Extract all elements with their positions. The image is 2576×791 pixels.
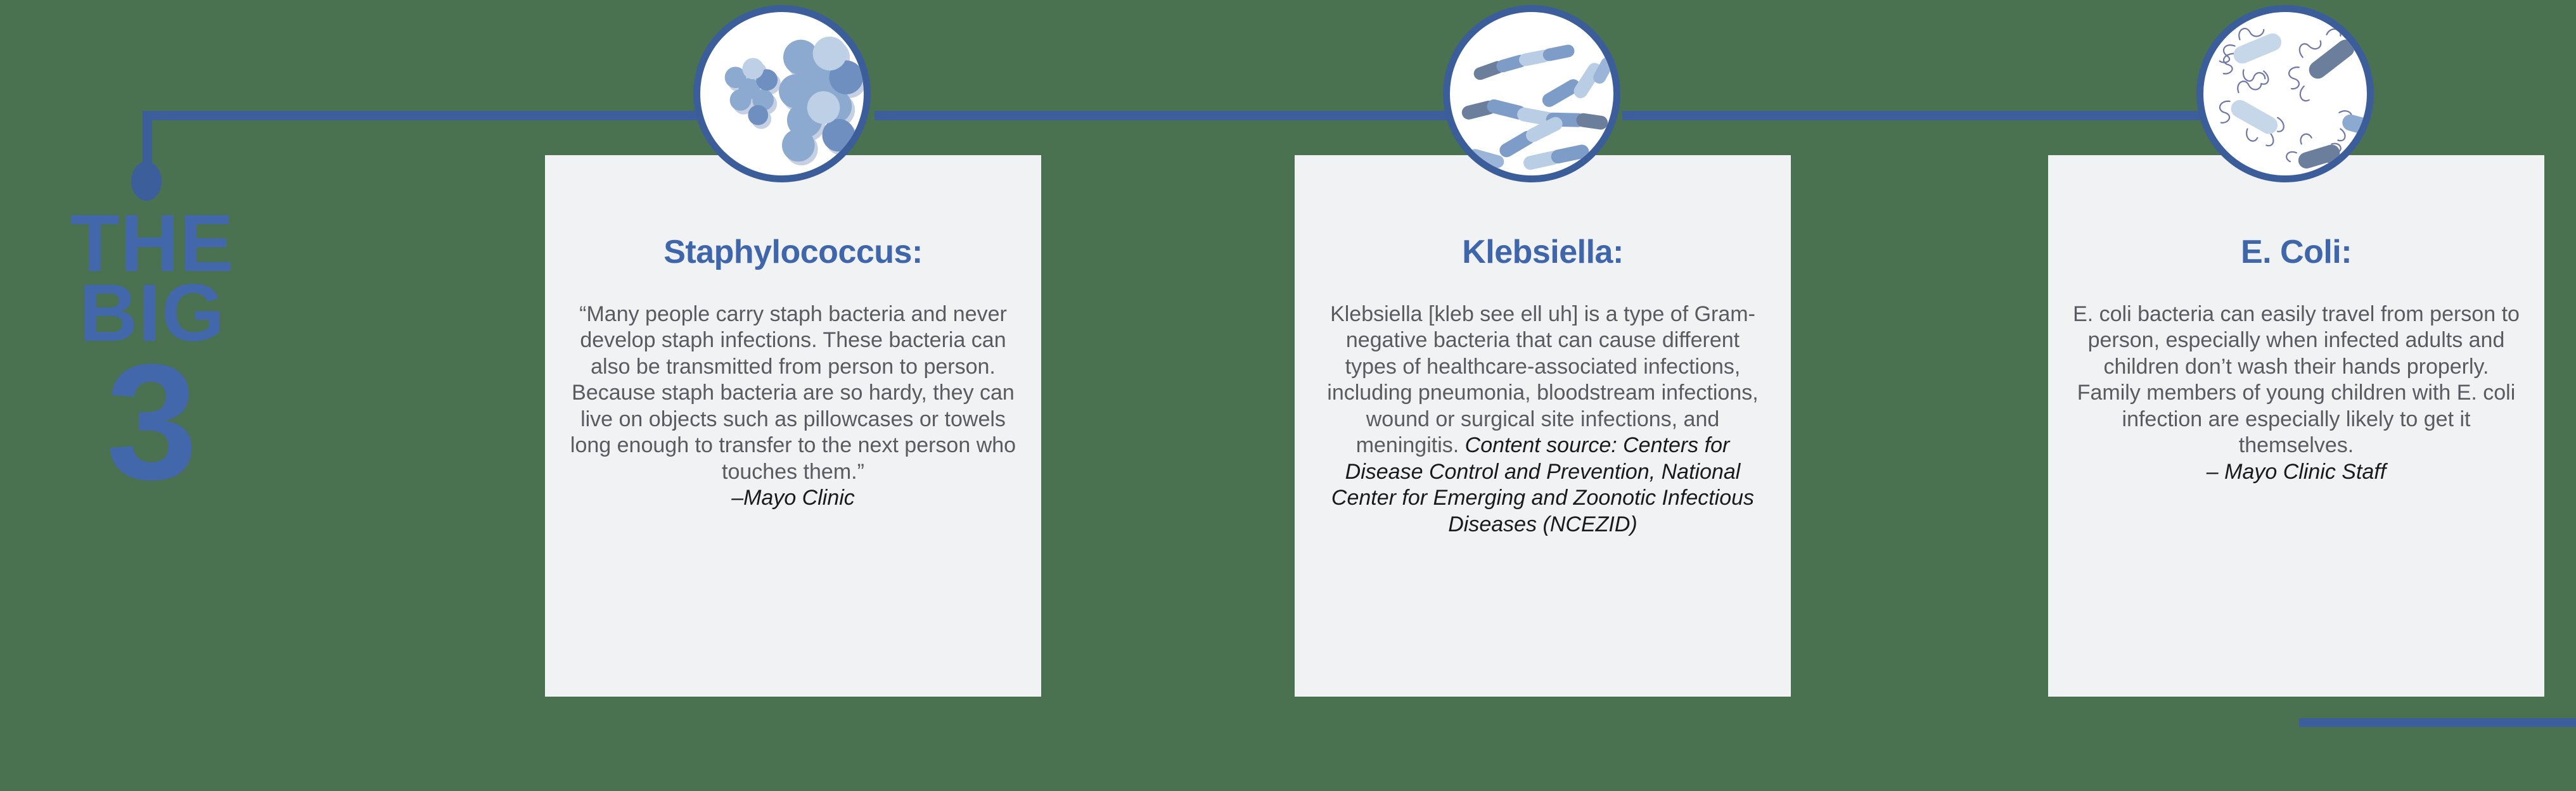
card-attribution: –Mayo Clinic <box>569 485 1017 511</box>
card-ecoli: E. Coli: E. coli bacteria can easily tra… <box>2048 155 2544 697</box>
card-staphylococcus: Staphylococcus: “Many people carry staph… <box>545 155 1041 697</box>
page-title: THE BIG 3 <box>19 209 285 494</box>
card-body-klebsiella: Klebsiella [kleb see ell uh] is a type o… <box>1319 301 1767 538</box>
card-title-klebsiella: Klebsiella: <box>1319 233 1767 271</box>
connector-line-main <box>143 111 783 120</box>
badge-ecoli <box>2196 5 2374 182</box>
card-body-ecoli: E. coli bacteria can easily travel from … <box>2072 301 2520 485</box>
card-body-text: E. coli bacteria can easily travel from … <box>2073 302 2520 457</box>
connector-line-card2-card3 <box>1622 111 2205 120</box>
bottom-rule <box>2299 718 2576 727</box>
card-klebsiella: Klebsiella: Klebsiella [kleb see ell uh]… <box>1295 155 1791 697</box>
ecoli-flagella-icon <box>2203 12 2367 175</box>
badge-staphylococcus <box>693 5 871 182</box>
card-attribution: – Mayo Clinic Staff <box>2072 459 2520 485</box>
card-title-ecoli: E. Coli: <box>2072 233 2520 271</box>
badge-klebsiella <box>1443 5 1620 182</box>
connector-dot <box>131 161 162 201</box>
connector-line-card1-card2 <box>875 111 1458 120</box>
staphylococcus-cluster-icon <box>700 12 864 175</box>
headline-line-3: 3 <box>19 352 285 494</box>
card-body-text: “Many people carry staph bacteria and ne… <box>570 302 1016 484</box>
klebsiella-rod-icon <box>1450 12 1613 175</box>
infographic-canvas: THE BIG 3 Staphylococcus: “Many people c… <box>0 0 2576 791</box>
card-title-staphylococcus: Staphylococcus: <box>569 233 1017 271</box>
card-body-staphylococcus: “Many people carry staph bacteria and ne… <box>569 301 1017 512</box>
